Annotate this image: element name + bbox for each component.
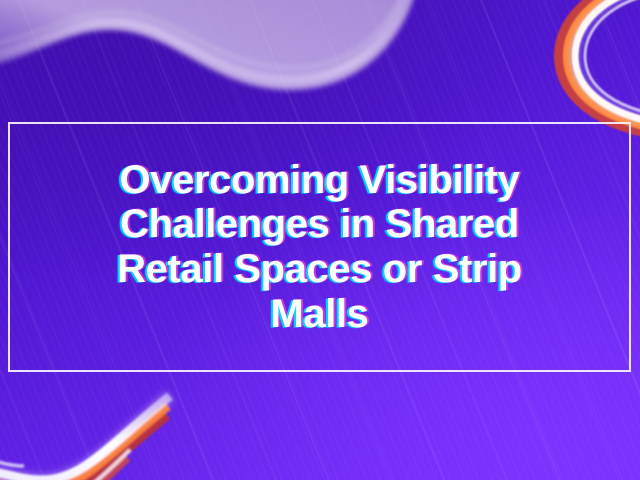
page-title: Overcoming Visibility Challenges in Shar… <box>47 158 592 336</box>
title-card: Overcoming Visibility Challenges in Shar… <box>0 0 640 480</box>
title-container: Overcoming Visibility Challenges in Shar… <box>8 122 631 372</box>
